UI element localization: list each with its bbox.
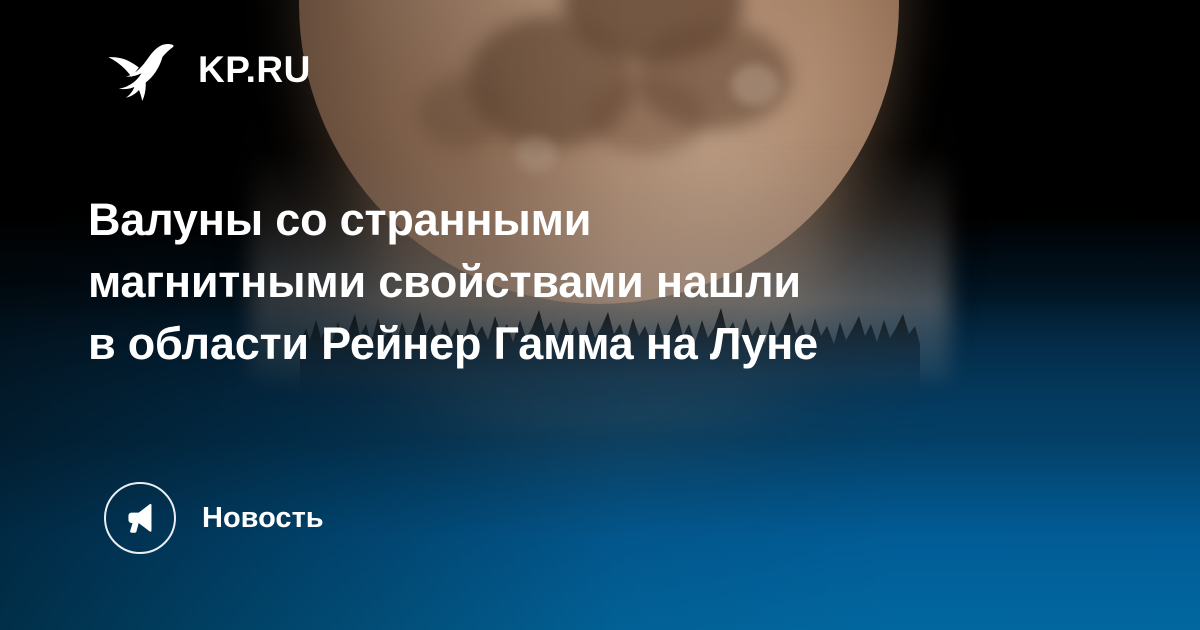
headline-line: Валуны со странными xyxy=(88,189,1098,251)
brand-name: KP.RU xyxy=(198,51,311,88)
headline-line: магнитными свойствами нашли xyxy=(88,251,1098,313)
headline-line: в области Рейнер Гамма на Луне xyxy=(88,313,1098,375)
card-content: KP.RU Валуны со странными магнитными сво… xyxy=(0,0,1200,630)
megaphone-icon xyxy=(104,482,176,554)
news-share-card: KP.RU Валуны со странными магнитными сво… xyxy=(0,0,1200,630)
content-type-label-text: Новость xyxy=(202,504,324,533)
swallow-bird-icon xyxy=(104,33,176,105)
headline: Валуны со странными магнитными свойствам… xyxy=(88,189,1098,375)
content-type-label[interactable]: Новость xyxy=(104,482,324,554)
brand-lockup[interactable]: KP.RU xyxy=(104,33,311,105)
